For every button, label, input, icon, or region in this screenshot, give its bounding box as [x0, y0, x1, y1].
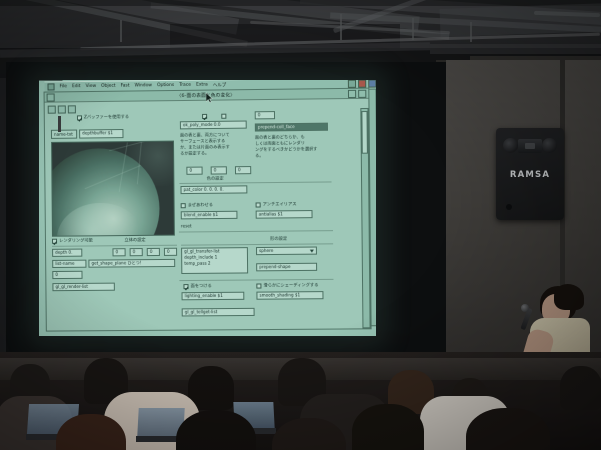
- color-field-r[interactable]: 0: [186, 167, 202, 175]
- scrollbar-thumb[interactable]: [361, 111, 368, 154]
- presenter-hair-back: [554, 284, 584, 310]
- renderable-checkbox[interactable]: [52, 239, 57, 244]
- shape-plane-input[interactable]: get_shape_plane ひとつ!: [88, 259, 175, 268]
- speaker-port: [506, 204, 512, 210]
- color-group-label: 色の設定: [207, 176, 224, 180]
- mouse-cursor-icon: [206, 93, 213, 103]
- projection-screen: File Edit View Object Fast Window Option…: [39, 80, 376, 336]
- zbuffer-label: Zバッファーを使用する: [84, 115, 129, 120]
- poly-mode-input[interactable]: ok_poly_mode 0.0: [180, 121, 247, 130]
- middle-checkbox-row[interactable]: [180, 113, 249, 119]
- name-row[interactable]: name-txt depthbuffer $1: [51, 129, 124, 139]
- section-divider: [179, 230, 333, 232]
- shape-dropdown[interactable]: sphere: [256, 247, 317, 256]
- menu-item-file[interactable]: File: [60, 84, 67, 89]
- speaker-driver-right: [542, 138, 557, 153]
- menu-item-view[interactable]: View: [86, 84, 97, 89]
- middle-panel: ok_poly_mode 0.0 面の表と裏、両方について サーフェースと表示す…: [180, 113, 249, 156]
- menu-item-object[interactable]: Object: [101, 84, 115, 89]
- menu-item-help[interactable]: ヘルプ: [213, 82, 226, 88]
- right-small-input[interactable]: 0: [255, 111, 275, 119]
- minimize-box-icon[interactable]: [348, 80, 356, 87]
- list-name-input[interactable]: list-name: [52, 260, 86, 268]
- menu-item-trace[interactable]: Trace: [179, 83, 191, 88]
- lighting-label: 面をつける: [191, 284, 212, 288]
- zoom-box-icon[interactable]: [348, 89, 356, 97]
- photograph-scene: File Edit View Object Fast Window Option…: [0, 0, 601, 450]
- middle-checkbox-b[interactable]: [221, 114, 226, 119]
- speaker-horn: [518, 139, 542, 153]
- solid-field-1[interactable]: 0: [112, 248, 125, 256]
- middle-checkbox-a[interactable]: [202, 114, 207, 119]
- zbuffer-checkbox[interactable]: [77, 115, 82, 120]
- blend-enable-input[interactable]: blend_enable $1: [181, 211, 238, 220]
- bottomright-divider: [181, 243, 333, 245]
- collface-input-selected[interactable]: prepend-coll_face: [255, 123, 328, 132]
- shape-dropdown-value: sphere: [259, 249, 273, 253]
- app-icon: [47, 83, 54, 90]
- right-panel: 0 prepend-coll_face 面の表と裏のどちらか、も しくは両面とも…: [255, 110, 329, 159]
- antialias-input[interactable]: antialias $1: [256, 210, 313, 219]
- solid-field-2[interactable]: 0: [130, 248, 143, 256]
- lighting-checkbox[interactable]: [183, 284, 188, 289]
- speaker-mount: [58, 116, 61, 132]
- preview-glow: [122, 141, 175, 187]
- antialias-checkbox-row[interactable]: アンチエイリアス: [256, 202, 297, 207]
- lighting-enable-input[interactable]: lighting_enable $1: [182, 292, 245, 301]
- maximize-box-icon[interactable]: [358, 89, 366, 97]
- blend-checkbox-row[interactable]: まぜあわせる: [181, 203, 213, 208]
- menu-item-options[interactable]: Options: [157, 83, 174, 88]
- blend-checkbox[interactable]: [181, 203, 186, 208]
- menu-item-window[interactable]: Window: [135, 83, 153, 88]
- renderable-label: レンダリング可能: [59, 239, 93, 244]
- color-field-b[interactable]: 0: [235, 166, 251, 174]
- depth-input[interactable]: depth 0.: [52, 249, 82, 257]
- solid-group-label: 立体の設定: [124, 238, 145, 242]
- lighting-checkbox-row[interactable]: 面をつける: [183, 284, 211, 289]
- audience-head-front: [352, 404, 424, 450]
- menu-item-edit[interactable]: Edit: [72, 84, 81, 89]
- smooth-checkbox[interactable]: [256, 283, 261, 288]
- shade-divider: [179, 279, 333, 281]
- desktop-background: File Edit View Object Fast Window Option…: [39, 80, 376, 336]
- dialog-body: Zバッファーを使用する name-txt depthbuffer $1: [45, 108, 371, 331]
- extra-input[interactable]: 0: [52, 271, 82, 279]
- smooth-label: 滑らかにシェーディングする: [263, 283, 318, 288]
- antialias-label: アンチエイリアス: [263, 202, 297, 207]
- pat-color-input[interactable]: pat_color 0. 0. 0. 0.: [180, 185, 247, 194]
- projected-image: File Edit View Object Fast Window Option…: [39, 80, 376, 336]
- microphone-head: [521, 304, 529, 312]
- transfer-list-items[interactable]: gl_gl_transfer-list depth_include 1 temp…: [184, 248, 247, 267]
- smooth-checkbox-row[interactable]: 滑らかにシェーディングする: [256, 283, 318, 289]
- shape-group-label: 形の設定: [270, 237, 287, 241]
- antialias-checkbox[interactable]: [256, 202, 261, 207]
- render-list-input[interactable]: gl_gl_render-list: [52, 283, 114, 292]
- wall-speaker: RAMSA: [496, 128, 564, 220]
- render-preview[interactable]: [51, 141, 175, 237]
- color-value-row[interactable]: 0 0 0: [186, 166, 251, 175]
- restore-box-icon[interactable]: [358, 80, 366, 87]
- menu-item-fast[interactable]: Fast: [121, 83, 130, 88]
- list-item[interactable]: temp_pass 2: [184, 261, 247, 268]
- smooth-shading-input[interactable]: smooth_shading $1: [256, 291, 323, 300]
- audience-head: [560, 366, 601, 410]
- right-description: 面の表と裏のどちらか、も しくは両面ともにレンダリ ングをするべきかどうかを選択…: [255, 134, 328, 159]
- solid-field-3[interactable]: 0: [147, 248, 160, 256]
- color-group-divider: [179, 181, 331, 184]
- speaker-driver-left: [503, 138, 518, 153]
- speaker-brand-label: RAMSA: [496, 170, 564, 180]
- solid-value-row[interactable]: 0 0 0 0: [112, 248, 177, 257]
- color-field-g[interactable]: 0: [211, 166, 227, 174]
- reset-button[interactable]: reset: [181, 224, 192, 228]
- settings-dialog: 〈6-面の表面と色の変化〉: [44, 88, 372, 332]
- name-input[interactable]: depthbuffer $1: [79, 129, 123, 138]
- menu-item-extra[interactable]: Extra: [196, 83, 208, 88]
- bottomleft-divider: [52, 245, 177, 247]
- solid-field-4[interactable]: 0: [164, 248, 177, 256]
- name-button[interactable]: name-txt: [51, 130, 77, 139]
- tellget-list-input[interactable]: gl_gl_tellget-list: [182, 308, 255, 317]
- desktop-scrollbar[interactable]: [368, 89, 376, 327]
- renderable-checkbox-row[interactable]: レンダリング可能: [52, 238, 93, 243]
- chevron-down-icon[interactable]: [310, 249, 314, 252]
- middle-description: 面の表と裏、両方について サーフェースと表示する か、または片面のみ表示す るか…: [180, 132, 249, 157]
- prepend-shape-input[interactable]: prepend-shape: [256, 263, 317, 272]
- close-box-icon[interactable]: [368, 80, 376, 87]
- zbuffer-checkbox-row[interactable]: Zバッファーを使用する: [77, 115, 129, 121]
- wall-top-trim: [470, 56, 601, 60]
- blend-label: まぜあわせる: [188, 203, 213, 207]
